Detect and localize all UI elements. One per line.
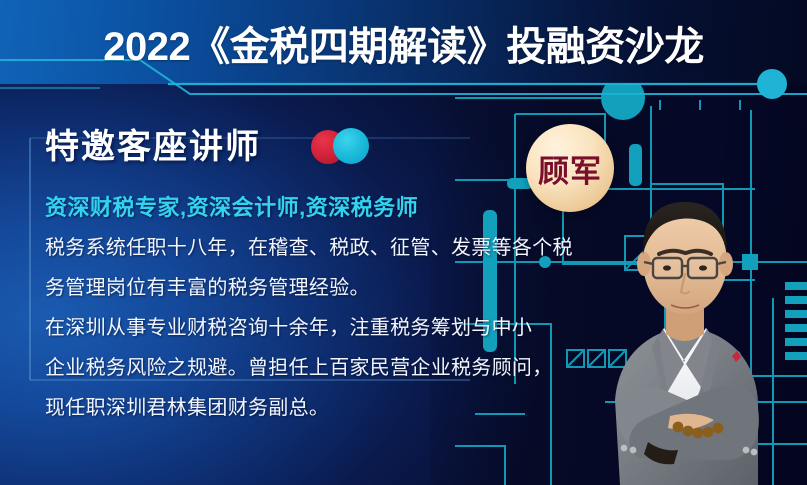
bio-line: 企业税务风险之规避。曾担任上百家民营企业税务顾问， xyxy=(45,348,585,388)
cyan-dot-icon xyxy=(333,128,369,164)
bio-line: 现任职深圳君林集团财务副总。 xyxy=(45,388,585,428)
bio-line: 税务系统任职十八年，在稽查、税政、征管、发票等各个税 xyxy=(45,228,585,268)
page-title: 2022《金税四期解读》投融资沙龙 xyxy=(0,14,807,72)
speaker-credentials: 资深财税专家,资深会计师,资深税务师 xyxy=(45,190,418,222)
speaker-portrait xyxy=(560,150,807,485)
poster-root: 2022《金税四期解读》投融资沙龙 特邀客座讲师 资深财税专家,资深会计师,资深… xyxy=(0,0,807,485)
headline-invited-lecturer: 特邀客座讲师 xyxy=(45,119,261,168)
bio-line: 在深圳从事专业财税咨询十余年，注重税务筹划与中小 xyxy=(45,308,585,348)
bio-line: 务管理岗位有丰富的税务管理经验。 xyxy=(45,268,585,308)
speaker-bio: 税务系统任职十八年，在稽查、税政、征管、发票等各个税 务管理岗位有丰富的税务管理… xyxy=(45,228,585,428)
